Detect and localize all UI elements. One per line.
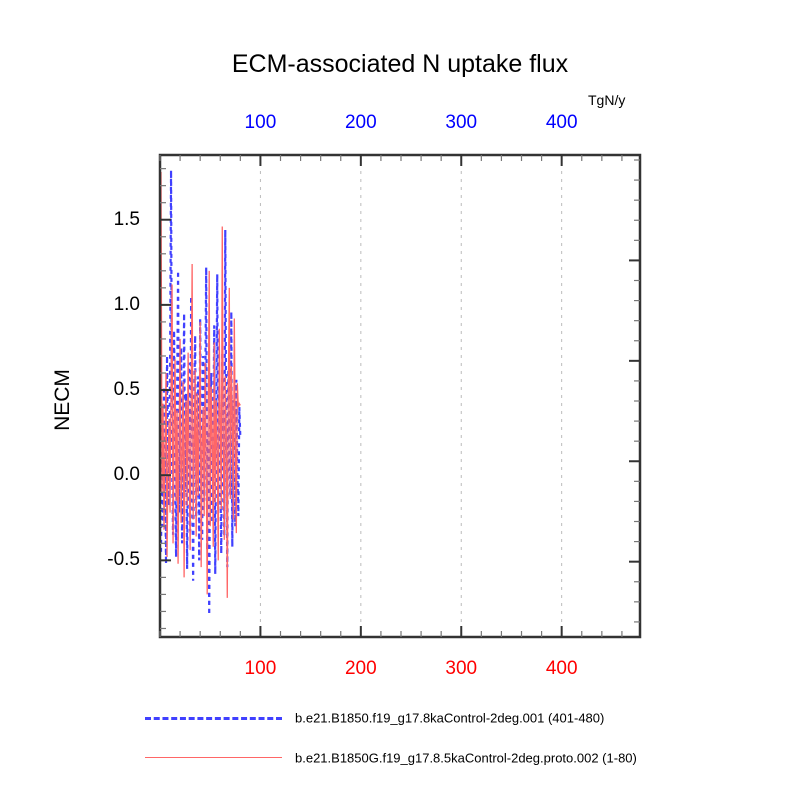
- legend-label: b.e21.B1850.f19_g17.8kaControl-2deg.001 …: [295, 711, 604, 726]
- top-axis-tick-label: 300: [445, 112, 477, 134]
- legend-label: b.e21.B1850G.f19_g17.8.5kaControl-2deg.p…: [295, 751, 637, 766]
- y-axis-tick-label: 1.5: [60, 209, 140, 231]
- legend-line-swatch: [145, 757, 282, 758]
- bottom-axis-tick-label: 200: [345, 658, 377, 680]
- top-axis-tick-label: 100: [245, 112, 277, 134]
- y-axis-tick-label: -0.5: [60, 549, 140, 571]
- top-axis-tick-label: 400: [546, 112, 578, 134]
- y-axis-title: NECM: [51, 330, 75, 470]
- bottom-axis-tick-label: 400: [546, 658, 578, 680]
- chart-figure: ECM-associated N uptake flux TgN/y 10020…: [0, 0, 800, 800]
- bottom-axis-tick-label: 300: [445, 658, 477, 680]
- top-axis-tick-label: 200: [345, 112, 377, 134]
- legend-line-swatch: [145, 717, 282, 720]
- bottom-axis-tick-label: 100: [245, 658, 277, 680]
- y-axis-tick-label: 1.0: [60, 294, 140, 316]
